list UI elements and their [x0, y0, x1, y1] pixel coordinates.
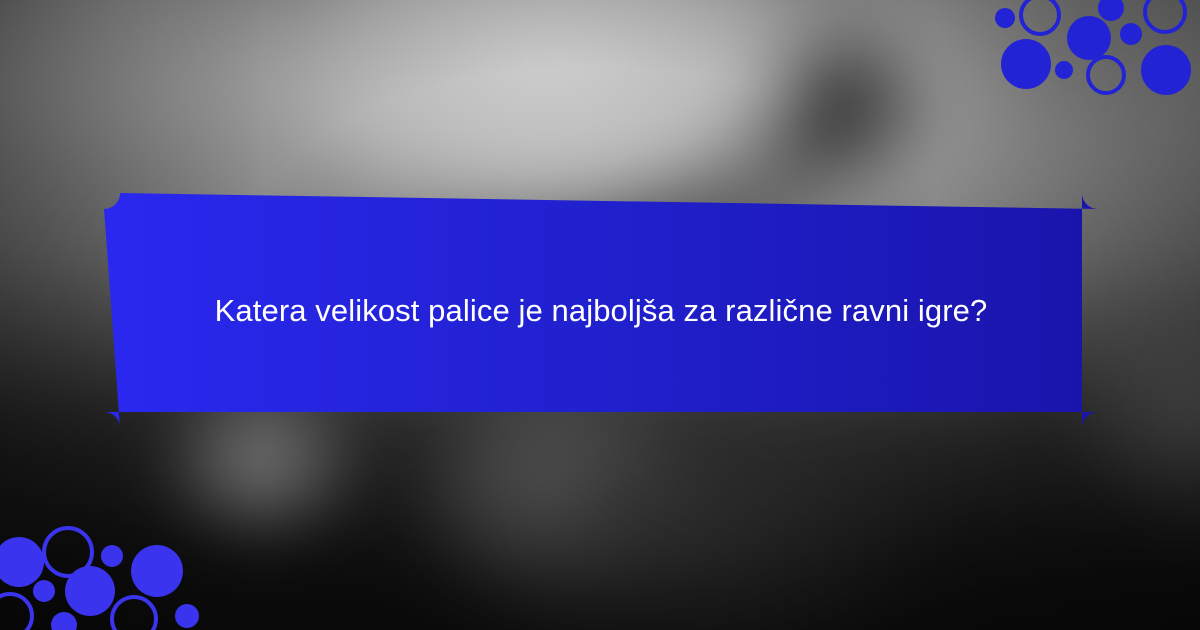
- title-banner: Katera velikost palice je najboljša za r…: [104, 193, 1098, 428]
- decorative-dot-filled: [131, 545, 183, 597]
- decorative-dot-filled: [33, 580, 55, 602]
- decorative-dot-filled: [1098, 0, 1124, 21]
- decorative-dot-ring: [0, 592, 34, 630]
- decorative-dot-filled: [65, 566, 115, 616]
- decorative-dot-filled: [1141, 45, 1191, 95]
- decorative-dot-ring: [1019, 0, 1061, 36]
- decorative-dot-filled: [175, 604, 199, 628]
- decorative-dot-ring: [110, 595, 158, 630]
- page-title: Katera velikost palice je najboljša za r…: [169, 284, 1034, 338]
- decorative-dot-filled: [101, 545, 123, 567]
- decorative-dot-filled: [0, 537, 44, 587]
- decorative-dot-filled: [1001, 39, 1051, 89]
- decorative-dot-ring: [1143, 0, 1187, 34]
- decorative-dot-filled: [1120, 23, 1142, 45]
- decorative-dot-filled: [51, 612, 77, 630]
- decorative-dot-filled: [1067, 16, 1111, 60]
- bottom-left-dot-cluster: [0, 524, 199, 630]
- decorative-dot-filled: [1055, 61, 1073, 79]
- decorative-dot-filled: [995, 8, 1015, 28]
- top-right-dot-cluster: [985, 0, 1200, 100]
- share-card: Katera velikost palice je najboljša za r…: [0, 0, 1200, 630]
- decorative-dot-ring: [1086, 55, 1126, 95]
